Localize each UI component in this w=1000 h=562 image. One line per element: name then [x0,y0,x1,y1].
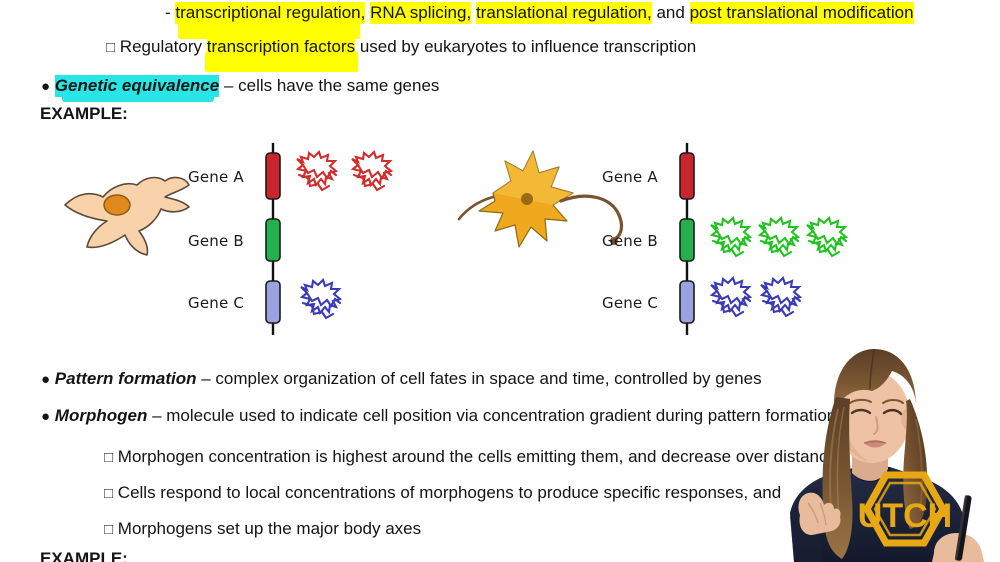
line2-text-a: Regulatory [120,37,202,56]
bullet-line-pattern-formation: ● Pattern formation – complex organizati… [41,368,762,391]
protein-cluster-b3-right [807,218,846,256]
bullet-line-3: ● Genetic equivalence – cells have the s… [41,75,439,98]
pattern-formation-definition: – complex organization of cell fates in … [201,369,761,388]
round-bullet-icon: ● [41,78,50,95]
square-bullet-icon: □ [106,39,115,56]
sub-bullet-line-1: □ Morphogen concentration is highest aro… [104,446,837,469]
protein-cluster-c2-right [761,278,800,316]
line1-and: and [656,3,684,22]
diagram-left: Gene A Gene B Gene C [45,135,425,350]
sub-bullet-line-3: □ Morphogens set up the major body axes [104,518,421,541]
neuron-cell-icon [459,151,622,247]
gene-label-b-left: Gene B [188,232,244,250]
line1-highlight-3: translational regulation, [476,2,652,24]
line2-highlight: transcription factors [207,36,355,58]
square-bullet-icon-3: □ [104,485,113,502]
protein-cluster-c1-right [711,278,750,316]
example-label-top: EXAMPLE: [40,103,128,125]
webcam-overlay: UTCH [738,327,1000,562]
pattern-formation-term: Pattern formation [55,369,197,388]
genetic-equivalence-term: Genetic equivalence [55,75,219,97]
gene-band-a-right [680,153,694,199]
gene-label-a-left: Gene A [188,168,244,186]
protein-cluster-a2-left [352,152,391,190]
gene-label-a-right: Gene A [602,168,658,186]
line1-highlight-1: transcriptional regulation, [175,2,365,24]
bullet-line-morphogen: ● Morphogen – molecule used to indicate … [41,405,836,428]
protein-cluster-a-left [297,152,336,190]
line3-definition: – cells have the same genes [224,76,439,95]
sub-bullet-line-2: □ Cells respond to local concentrations … [104,482,781,505]
morphogen-definition: – molecule used to indicate cell positio… [152,406,836,425]
round-bullet-icon-3: ● [41,408,50,425]
protein-cluster-b2-right [759,218,798,256]
sub-bullet-text-2: Cells respond to local concentrations of… [118,483,781,502]
gene-band-c-left [266,281,280,323]
gene-label-b-right: Gene B [602,232,658,250]
slide-screen: - transcriptional regulation, RNA splici… [0,0,1000,562]
instructor-figure: UTCH [738,327,1000,562]
square-bullet-icon-2: □ [104,449,113,466]
morphogen-term: Morphogen [55,406,148,425]
line1-highlight-4: post translational modification [690,2,914,24]
gene-label-c-left: Gene C [188,294,244,312]
bullet-line-1: - transcriptional regulation, RNA splici… [165,2,914,24]
square-bullet-icon-4: □ [104,521,113,538]
gene-band-c-right [680,281,694,323]
round-bullet-icon-2: ● [41,371,50,388]
gene-band-a-left [266,153,280,199]
shirt-logo-text: UTCH [858,497,952,535]
gene-band-b-left [266,219,280,261]
line2-text-b: used by eukaryotes to influence transcri… [360,37,696,56]
line1-highlight-2: RNA splicing, [370,2,471,24]
sub-bullet-text-1: Morphogen concentration is highest aroun… [118,447,837,466]
sub-bullet-text-3: Morphogens set up the major body axes [118,519,421,538]
gene-band-b-right [680,219,694,261]
amoeboid-cell-icon [65,178,189,255]
gene-label-c-right: Gene C [602,294,658,312]
bullet-line-2: □ Regulatory transcription factors used … [106,36,696,59]
protein-cluster-b1-right [711,218,750,256]
example-label-bottom: EXAMPLE: [40,548,128,562]
protein-cluster-c-left [301,280,340,318]
line1-dash: - [165,3,171,22]
diagram-right: Gene A Gene B Gene C [435,135,855,350]
